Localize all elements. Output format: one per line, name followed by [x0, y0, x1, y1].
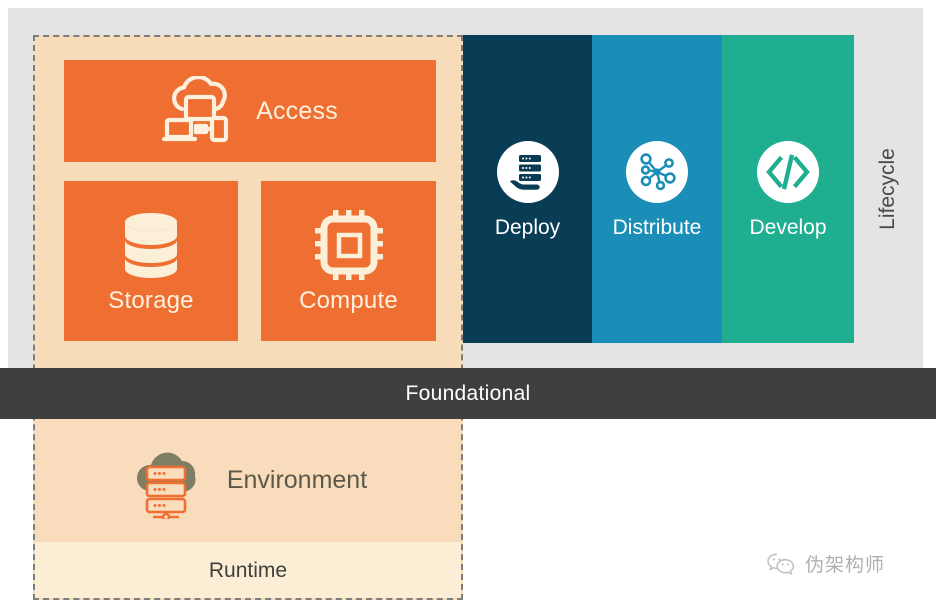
foundational-bar: Foundational: [0, 368, 936, 419]
environment-band[interactable]: Environment: [35, 419, 461, 542]
code-brackets-icon: [757, 141, 819, 203]
wechat-icon: [766, 552, 796, 576]
foundational-label: Foundational: [405, 382, 530, 406]
tile-label-storage: Storage: [108, 289, 193, 313]
runtime-band[interactable]: Runtime: [35, 542, 461, 598]
runtime-label: Runtime: [209, 560, 287, 581]
lifecycle-label-distribute: Distribute: [613, 217, 702, 238]
lifecycle-column-develop[interactable]: Develop: [722, 35, 854, 343]
capability-tile-compute[interactable]: Compute: [261, 181, 436, 341]
tile-label-access: Access: [256, 99, 338, 124]
diagram-canvas: Access Storage: [0, 0, 936, 608]
watermark: 伪架构师: [766, 550, 885, 577]
environment-label: Environment: [227, 468, 367, 493]
lifecycle-label-develop: Develop: [749, 217, 826, 238]
hand-server-icon: [497, 141, 559, 203]
watermark-text: 伪架构师: [805, 550, 885, 577]
lifecycle-column-deploy[interactable]: Deploy: [463, 35, 592, 343]
cloud-server-rack-icon: [129, 443, 211, 519]
network-hub-icon: [626, 141, 688, 203]
capability-tile-access[interactable]: Access: [64, 60, 436, 162]
capability-tile-storage[interactable]: Storage: [64, 181, 238, 341]
tile-label-compute: Compute: [299, 289, 398, 313]
cpu-chip-icon: [314, 209, 384, 281]
database-icon: [118, 209, 184, 281]
cloud-devices-icon: [162, 76, 238, 146]
lifecycle-caption-text: Lifecycle: [876, 148, 900, 230]
lifecycle-column-distribute[interactable]: Distribute: [592, 35, 722, 343]
lifecycle-axis-caption: Lifecycle: [853, 35, 923, 343]
lifecycle-label-deploy: Deploy: [495, 217, 560, 238]
